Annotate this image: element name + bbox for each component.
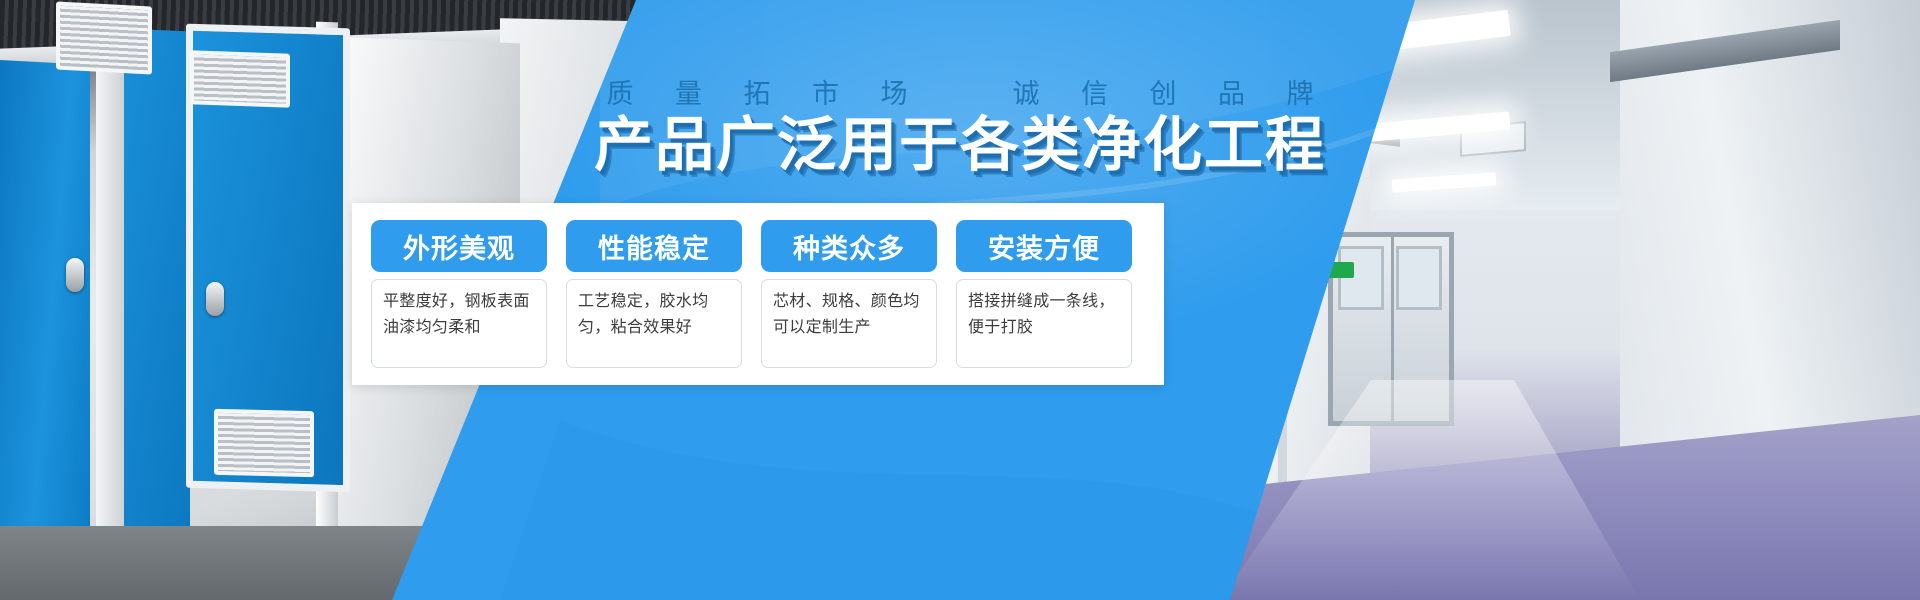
- cabin-vent-top-left: [56, 1, 152, 74]
- banner-headline: 产品广泛用于各类净化工程: [0, 112, 1920, 178]
- feature-card[interactable]: 性能稳定 工艺稳定，胶水均匀，粘合效果好: [566, 220, 742, 368]
- feature-card-body: 搭接拼缝成一条线，便于打胶: [956, 279, 1132, 368]
- door-window-left: [1338, 246, 1384, 310]
- feature-card-panel: 外形美观 平整度好，钢板表面油漆均匀柔和 性能稳定 工艺稳定，胶水均匀，粘合效果…: [352, 203, 1164, 385]
- cabin-handle-left: [66, 258, 84, 292]
- feature-card[interactable]: 种类众多 芯材、规格、颜色均可以定制生产: [761, 220, 937, 368]
- feature-card-body: 工艺稳定，胶水均匀，粘合效果好: [566, 279, 742, 368]
- feature-card-body: 芯材、规格、颜色均可以定制生产: [761, 279, 937, 368]
- feature-card[interactable]: 外形美观 平整度好，钢板表面油漆均匀柔和: [371, 220, 547, 368]
- banner-subtitle: 质 量 拓 市 场 诚 信 创 品 牌: [0, 72, 1920, 111]
- promo-banner: 质 量 拓 市 场 诚 信 创 品 牌 产品广泛用于各类净化工程 外形美观 平整…: [0, 0, 1920, 600]
- cabin-handle-door: [206, 282, 224, 316]
- feature-card-body: 平整度好，钢板表面油漆均匀柔和: [371, 279, 547, 368]
- door-window-right: [1396, 246, 1442, 310]
- feature-card-title: 性能稳定: [566, 220, 742, 272]
- feature-card[interactable]: 安装方便 搭接拼缝成一条线，便于打胶: [956, 220, 1132, 368]
- feature-card-title: 安装方便: [956, 220, 1132, 272]
- feature-card-title: 种类众多: [761, 220, 937, 272]
- cabin-vent-bottom: [214, 409, 314, 477]
- feature-card-title: 外形美观: [371, 220, 547, 272]
